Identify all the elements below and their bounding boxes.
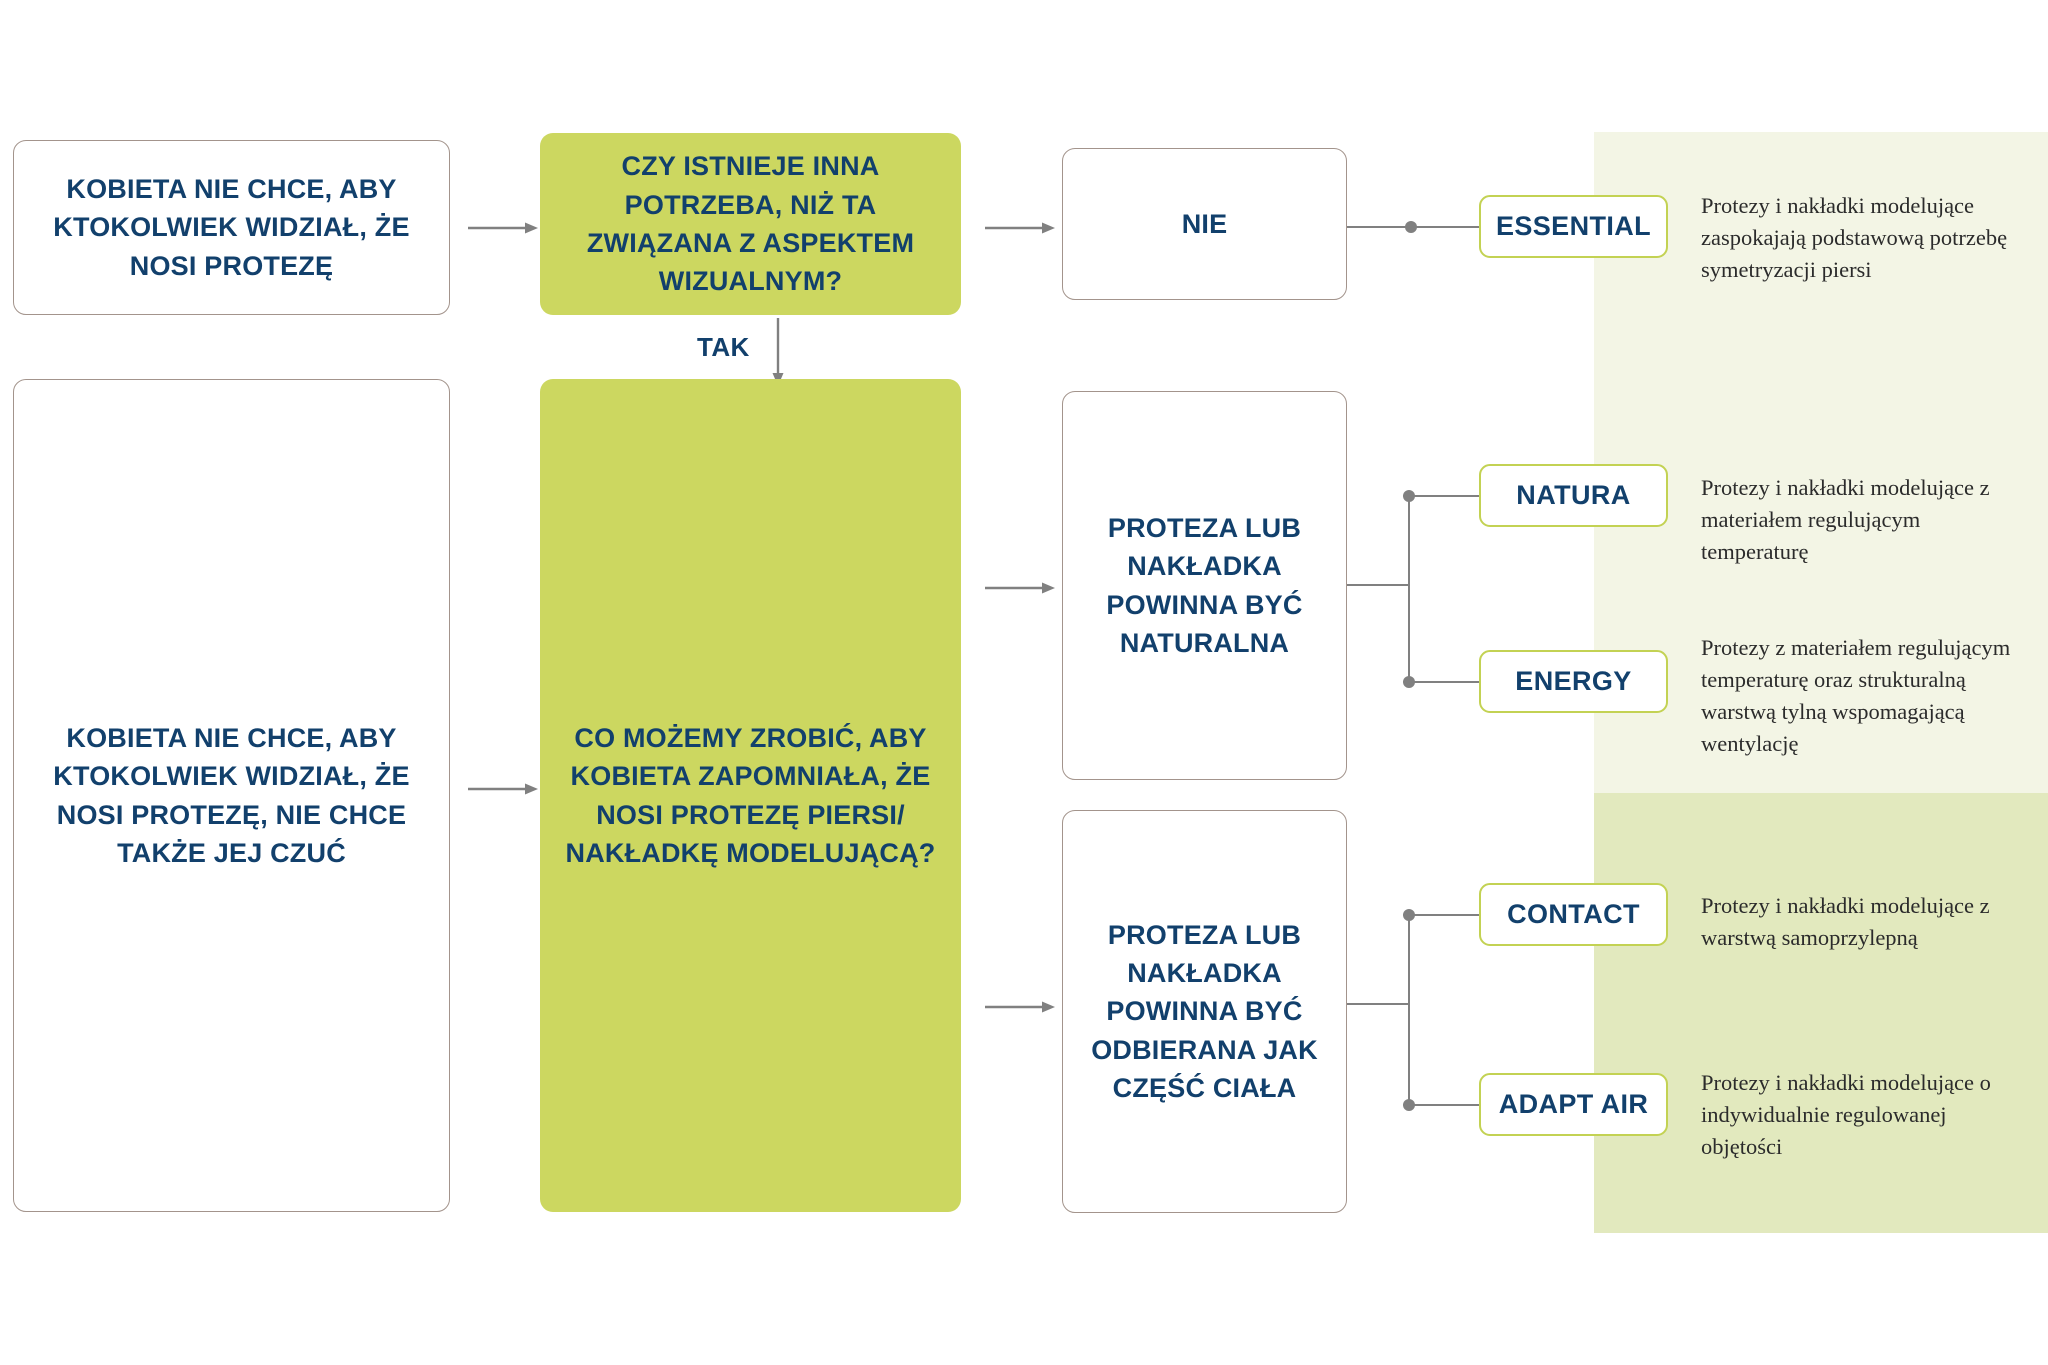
background-panel-dark — [1594, 793, 2048, 1233]
question-1-text: CZY ISTNIEJE INNA POTRZEBA, NIŻ TA ZWIĄZ… — [564, 147, 937, 300]
arrow-question2-to-outcome-body — [985, 1000, 1055, 1014]
product-name-natura: NATURA — [1516, 480, 1630, 511]
product-description-adapt-air: Protezy i nakładki modelujące o indywidu… — [1701, 1067, 2031, 1163]
scenario-box-1: KOBIETA NIE CHCE, ABY KTOKOLWIEK WIDZIAŁ… — [13, 140, 450, 315]
product-pill-contact[interactable]: CONTACT — [1479, 883, 1668, 946]
product-name-energy: ENERGY — [1515, 666, 1631, 697]
scenario-1-text: KOBIETA NIE CHCE, ABY KTOKOLWIEK WIDZIAŁ… — [40, 170, 423, 285]
connector-stem-natural — [1347, 584, 1410, 586]
answer-no-text: NIE — [1182, 205, 1228, 243]
product-pill-essential[interactable]: ESSENTIAL — [1479, 195, 1668, 258]
product-description-essential: Protezy i nakładki modelujące zaspokajaj… — [1701, 190, 2031, 286]
product-pill-natura[interactable]: NATURA — [1479, 464, 1668, 527]
connector-spine-body — [1408, 915, 1410, 1105]
question-2-text: CO MOŻEMY ZROBIĆ, ABY KOBIETA ZAPOMNIAŁA… — [564, 719, 937, 872]
product-description-energy: Protezy z materiałem regulującym tempera… — [1701, 632, 2031, 760]
product-name-contact: CONTACT — [1507, 899, 1640, 930]
product-name-essential: ESSENTIAL — [1496, 211, 1651, 242]
question-box-2: CO MOŻEMY ZROBIĆ, ABY KOBIETA ZAPOMNIAŁA… — [540, 379, 961, 1212]
arrow-question1-to-nie — [985, 221, 1055, 235]
answer-box-no: NIE — [1062, 148, 1347, 300]
label-tak: TAK — [697, 332, 750, 363]
outcome-body-text: PROTEZA LUB NAKŁADKA POWINNA BYĆ ODBIERA… — [1079, 916, 1330, 1108]
scenario-2-text: KOBIETA NIE CHCE, ABY KTOKOLWIEK WIDZIAŁ… — [34, 719, 429, 872]
arrow-scenario2-to-question2 — [468, 782, 538, 796]
product-pill-adapt-air[interactable]: ADAPT AIR — [1479, 1073, 1668, 1136]
connector-dot-contact — [1403, 909, 1415, 921]
connector-dot-energy — [1403, 676, 1415, 688]
arrow-question1-to-question2 — [771, 318, 785, 386]
connector-dot-adapt-air — [1403, 1099, 1415, 1111]
connector-branch-contact — [1408, 914, 1479, 916]
arrow-scenario1-to-question1 — [468, 221, 538, 235]
connector-stem-body — [1347, 1003, 1410, 1005]
product-description-natura: Protezy i nakładki modelujące z materiał… — [1701, 472, 2031, 568]
flowchart-canvas: KOBIETA NIE CHCE, ABY KTOKOLWIEK WIDZIAŁ… — [0, 0, 2048, 1365]
connector-branch-adapt-air — [1408, 1104, 1479, 1106]
connector-dot-natura — [1403, 490, 1415, 502]
question-box-1: CZY ISTNIEJE INNA POTRZEBA, NIŻ TA ZWIĄZ… — [540, 133, 961, 315]
connector-branch-energy — [1408, 681, 1479, 683]
outcome-natural-text: PROTEZA LUB NAKŁADKA POWINNA BYĆ NATURAL… — [1079, 509, 1330, 662]
product-description-contact: Protezy i nakładki modelujące z warstwą … — [1701, 890, 2031, 954]
scenario-box-2: KOBIETA NIE CHCE, ABY KTOKOLWIEK WIDZIAŁ… — [13, 379, 450, 1212]
product-pill-energy[interactable]: ENERGY — [1479, 650, 1668, 713]
outcome-box-body: PROTEZA LUB NAKŁADKA POWINNA BYĆ ODBIERA… — [1062, 810, 1347, 1213]
connector-spine-natural — [1408, 496, 1410, 683]
arrow-question2-to-outcome-natural — [985, 581, 1055, 595]
product-name-adapt-air: ADAPT AIR — [1499, 1089, 1649, 1120]
outcome-box-natural: PROTEZA LUB NAKŁADKA POWINNA BYĆ NATURAL… — [1062, 391, 1347, 780]
connector-dot-essential — [1405, 221, 1417, 233]
connector-branch-natura — [1408, 495, 1479, 497]
